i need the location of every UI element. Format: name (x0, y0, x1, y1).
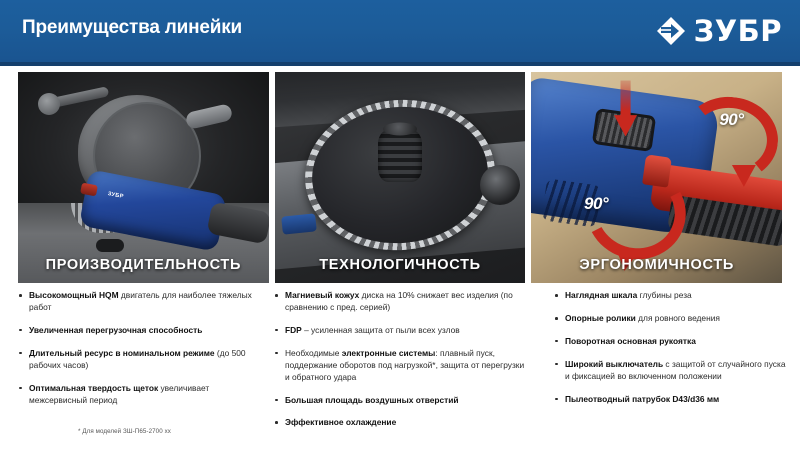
bullet-text-pre: Необходимые (285, 348, 342, 358)
card1-dust-nozzle (185, 103, 234, 130)
bullet-text-bold: Эффективное охлаждение (285, 417, 396, 427)
feature-bullet: Эффективное охлаждение (274, 417, 530, 429)
card-caption-ergonomics: ЭРГОНОМИЧНОСТЬ (531, 257, 782, 273)
feature-bullet: Оптимальная твердость щеток увеличивает … (18, 383, 262, 407)
card-caption-performance: ПРОИЗВОДИТЕЛЬНОСТЬ (18, 257, 269, 273)
card-image-ergonomics: 90° 90° ЭРГОНОМИЧНОСТЬ (531, 72, 782, 283)
feature-bullet: Необходимые электронные системы: плавный… (274, 348, 530, 384)
bullet-text-bold: Поворотная основная рукоятка (565, 336, 696, 346)
header-underline (0, 62, 800, 66)
bullet-text-bold: Длительный ресурс в номинальном режиме (29, 348, 215, 358)
feature-columns: Высокомощный HQM двигатель для наиболее … (18, 290, 786, 440)
card-image-technology: ТЕХНОЛОГИЧНОСТЬ (275, 72, 526, 283)
card3-angle-label-left: 90° (584, 194, 608, 214)
feature-column-technology: Магниевый кожух диска на 10% снижает вес… (274, 290, 530, 440)
bullet-text-rest: для ровного ведения (636, 313, 720, 323)
bullet-text-bold: Увеличенная перегрузочная способность (29, 325, 202, 335)
card-image-performance: ЗУБР ПРОИЗВОДИТЕЛЬНОСТЬ (18, 72, 269, 283)
zubr-diamond-arrow-logo-icon (655, 15, 687, 47)
card1-wheels (96, 239, 124, 252)
feature-bullet: Пылеотводный патрубок D43/d36 мм (554, 394, 792, 406)
bullet-text-bold: FDP (285, 325, 302, 335)
brand-name: ЗУБР (694, 17, 782, 46)
footnote: * Для моделей ЗШ-П65-2700 хх (78, 428, 171, 435)
feature-bullet: Магниевый кожух диска на 10% снижает вес… (274, 290, 530, 314)
feature-column-ergonomics: Наглядная шкала глубины резаОпорные роли… (536, 290, 792, 440)
card2-support-roller (480, 165, 520, 205)
card3-background: 90° 90° (531, 72, 782, 283)
bullet-text-bold: Опорные ролики (565, 313, 636, 323)
bullet-text-bold: Большая площадь воздушных отверстий (285, 395, 459, 405)
feature-bullet: Наглядная шкала глубины реза (554, 290, 792, 302)
feature-cards: ЗУБР ПРОИЗВОДИТЕЛЬНОСТЬ ТЕХНОЛОГИЧНОСТЬ (18, 72, 782, 283)
feature-bullet: Поворотная основная рукоятка (554, 336, 792, 348)
bullet-text-bold: Магниевый кожух (285, 290, 359, 300)
card1-red-button (80, 182, 98, 196)
card1-handle-knob (38, 93, 60, 115)
card2-hub-cap (383, 122, 417, 135)
feature-bullet: Увеличенная перегрузочная способность (18, 325, 262, 337)
feature-bullet: Опорные ролики для ровного ведения (554, 313, 792, 325)
card2-threaded-hub (378, 130, 422, 182)
card1-body-brand: ЗУБР (107, 191, 124, 200)
card1-background: ЗУБР (18, 72, 269, 283)
card-caption-technology: ТЕХНОЛОГИЧНОСТЬ (275, 257, 526, 273)
feature-bullet: Большая площадь воздушных отверстий (274, 395, 530, 407)
feature-column-performance: Высокомощный HQM двигатель для наиболее … (18, 290, 268, 440)
card3-angle-label-right: 90° (719, 110, 743, 130)
feature-bullet: FDP – усиленная защита от пыли всех узло… (274, 325, 530, 337)
bullet-text-bold: Широкий выключатель (565, 359, 663, 369)
bullet-text-rest: – усиленная защита от пыли всех узлов (302, 325, 460, 335)
bullet-text-bold: электронные системы (342, 348, 436, 358)
brand-logo: ЗУБР (655, 14, 782, 48)
bullet-text-bold: Наглядная шкала (565, 290, 637, 300)
feature-bullet: Высокомощный HQM двигатель для наиболее … (18, 290, 262, 314)
card2-background (275, 72, 526, 283)
page-title: Преимущества линейки (22, 17, 242, 39)
feature-bullet: Длительный ресурс в номинальном режиме (… (18, 348, 262, 372)
feature-bullet: Широкий выключатель с защитой от случайн… (554, 359, 792, 383)
bullet-text-bold: Высокомощный HQM (29, 290, 119, 300)
bullet-text-rest: глубины реза (637, 290, 691, 300)
bullet-text-bold: Оптимальная твердость щеток (29, 383, 158, 393)
bullet-text-bold: Пылеотводный патрубок D43/d36 мм (565, 394, 719, 404)
